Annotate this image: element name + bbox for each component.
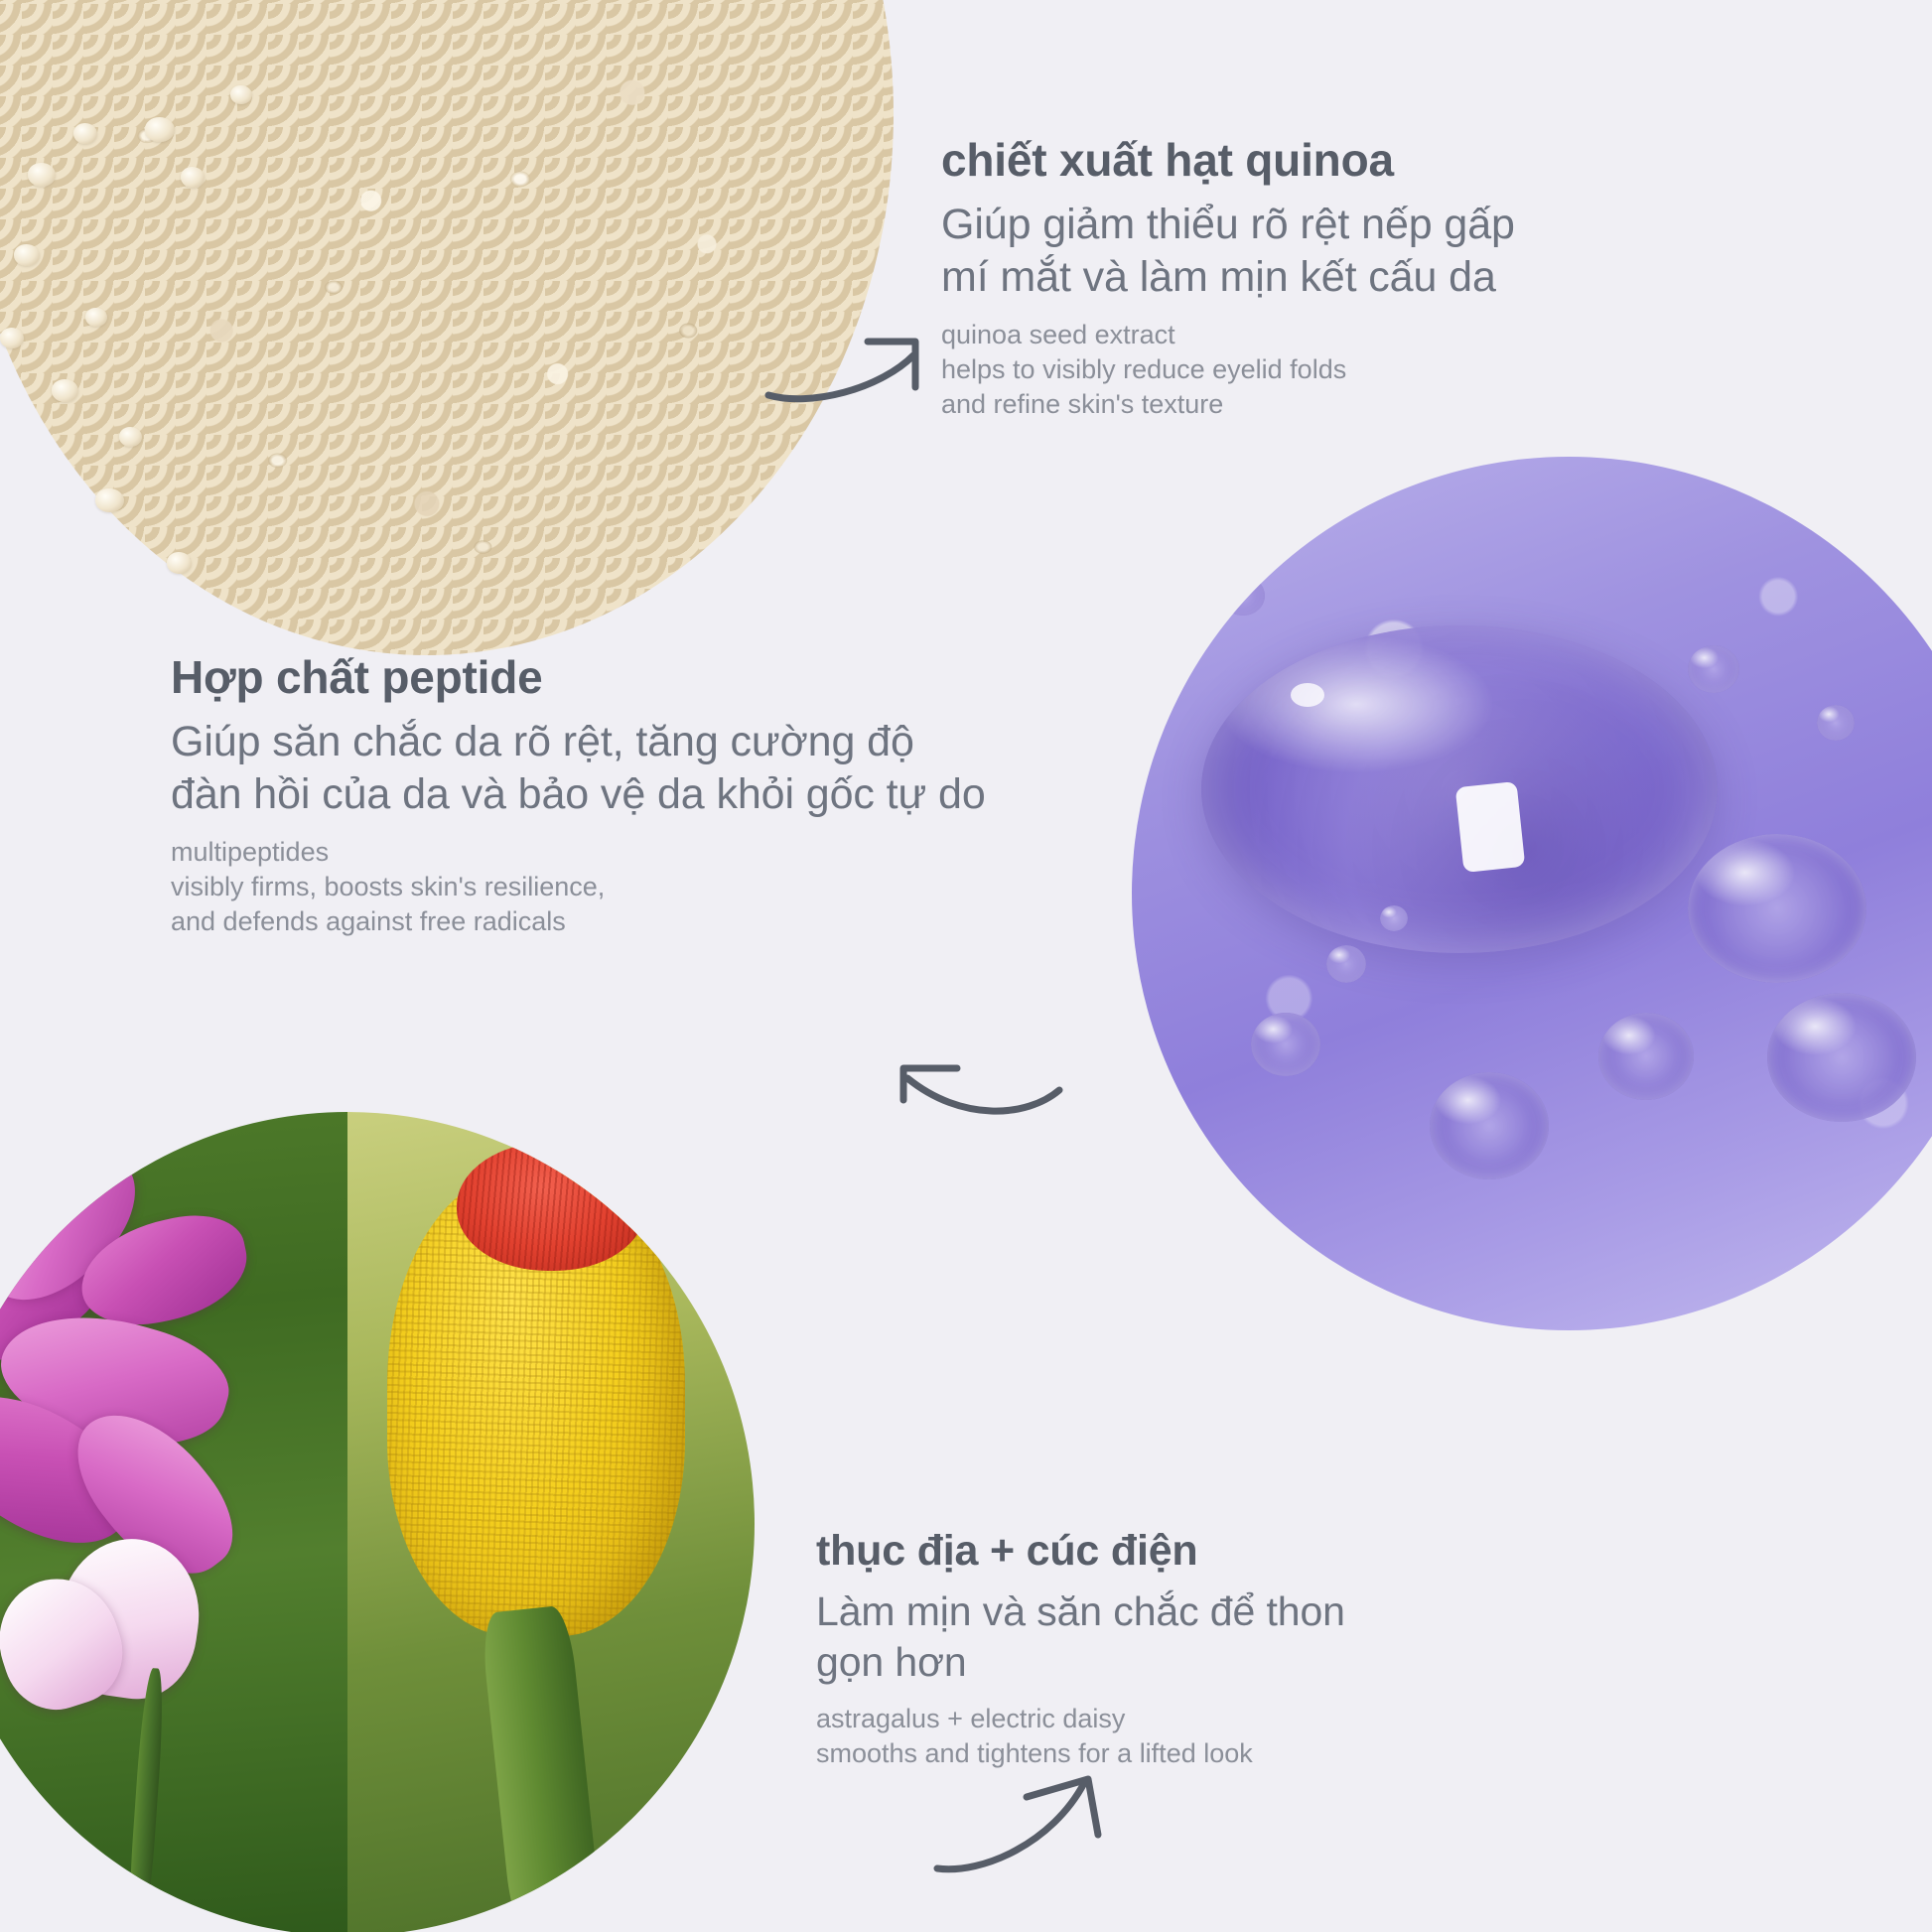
quinoa-en-body-line: helps to visibly reduce eyelid folds — [941, 352, 1515, 387]
quinoa-grain-loose — [145, 117, 175, 142]
bubble-small — [1598, 1013, 1694, 1100]
astragalus-vi-body-line: Làm mịn và săn chắc để thon — [816, 1587, 1345, 1637]
quinoa-grain-loose — [85, 308, 107, 327]
quinoa-seeds-photo — [0, 0, 894, 655]
quinoa-en-body-line: and refine skin's texture — [941, 387, 1515, 422]
flower-stem — [125, 1668, 166, 1932]
quinoa-grain-loose — [28, 163, 56, 187]
bubble-small — [1430, 1072, 1549, 1179]
quinoa-grain-loose — [0, 328, 24, 348]
astragalus-en-body-line: smooths and tightens for a lifted look — [816, 1736, 1345, 1771]
astragalus-vi-body-line: gọn hơn — [816, 1637, 1345, 1688]
arrow-head-path — [1027, 1779, 1098, 1835]
bubble-medium — [1767, 993, 1916, 1122]
quinoa-en-body: quinoa seed extract helps to visibly red… — [941, 318, 1515, 422]
peptide-en-body-line: multipeptides — [171, 835, 986, 870]
peptide-vi-body-line: Giúp săn chắc da rõ rệt, tăng cường độ — [171, 716, 986, 768]
quinoa-grain-loose — [230, 85, 252, 104]
astragalus-and-daisy-photo — [0, 1112, 755, 1932]
daisy-red-crown — [457, 1142, 645, 1271]
quinoa-vi-body-line: mí mắt và làm mịn kết cấu da — [941, 251, 1515, 304]
arrow-to-flower-image — [931, 1769, 1110, 1878]
peptide-en-body: multipeptides visibly firms, boosts skin… — [171, 835, 986, 939]
quinoa-grain-loose — [52, 379, 78, 402]
quinoa-grain-loose — [95, 488, 124, 512]
astragalus-flower-photo — [0, 1112, 347, 1932]
purple-bubbles-photo — [1132, 457, 1932, 1330]
electric-daisy-photo — [347, 1112, 755, 1932]
quinoa-vi-heading: chiết xuất hạt quinoa — [941, 135, 1515, 187]
arrow-to-quinoa-image — [762, 328, 941, 407]
bubble-tiny — [1221, 576, 1265, 616]
bubble-tiny — [1817, 705, 1855, 741]
arrow-to-peptide-text — [878, 1052, 1066, 1132]
quinoa-grain-loose — [167, 552, 192, 574]
quinoa-vi-body: Giúp giảm thiểu rõ rệt nếp gấp mí mắt và… — [941, 199, 1515, 305]
arrow-curve-path — [907, 1078, 1059, 1111]
ingredient-block-astragalus-daisy: thục địa + cúc điện Làm mịn và săn chắc … — [816, 1527, 1345, 1771]
arrow-curve-path — [937, 1783, 1084, 1869]
astragalus-vi-heading: thục địa + cúc điện — [816, 1527, 1345, 1575]
quinoa-vi-body-line: Giúp giảm thiểu rõ rệt nếp gấp — [941, 199, 1515, 251]
bubble-specular-highlight — [1455, 781, 1526, 873]
peptide-en-body-line: visibly firms, boosts skin's resilience, — [171, 870, 986, 904]
ingredient-block-quinoa: chiết xuất hạt quinoa Giúp giảm thiểu rõ… — [941, 135, 1515, 422]
bubble-tiny — [1380, 905, 1408, 931]
bubble-small — [1251, 1013, 1320, 1076]
daisy-stem — [480, 1604, 603, 1932]
bubble-specular-highlight — [1291, 683, 1324, 707]
peptide-vi-body-line: đàn hồi của da và bảo vệ da khỏi gốc tự … — [171, 768, 986, 821]
quinoa-grain-loose — [73, 123, 97, 144]
peptide-vi-body: Giúp săn chắc da rõ rệt, tăng cường độ đ… — [171, 716, 986, 822]
astragalus-en-body: astragalus + electric daisy smooths and … — [816, 1702, 1345, 1771]
quinoa-grain-loose — [14, 244, 40, 266]
bubble-tiny — [1326, 945, 1366, 983]
peptide-vi-heading: Hợp chất peptide — [171, 652, 986, 704]
arrow-curve-path — [768, 355, 913, 399]
bubble-medium — [1688, 834, 1866, 983]
quinoa-en-body-line: quinoa seed extract — [941, 318, 1515, 352]
quinoa-grain-loose — [119, 427, 142, 447]
astragalus-en-body-line: astragalus + electric daisy — [816, 1702, 1345, 1736]
bubble-tiny — [1688, 645, 1739, 693]
astragalus-vi-body: Làm mịn và săn chắc để thon gọn hơn — [816, 1587, 1345, 1688]
ingredient-block-peptide: Hợp chất peptide Giúp săn chắc da rõ rệt… — [171, 652, 986, 939]
quinoa-grain-loose — [181, 167, 205, 188]
infographic-canvas: chiết xuất hạt quinoa Giúp giảm thiểu rõ… — [0, 0, 1932, 1932]
peptide-en-body-line: and defends against free radicals — [171, 904, 986, 939]
quinoa-grain-texture — [0, 0, 894, 655]
